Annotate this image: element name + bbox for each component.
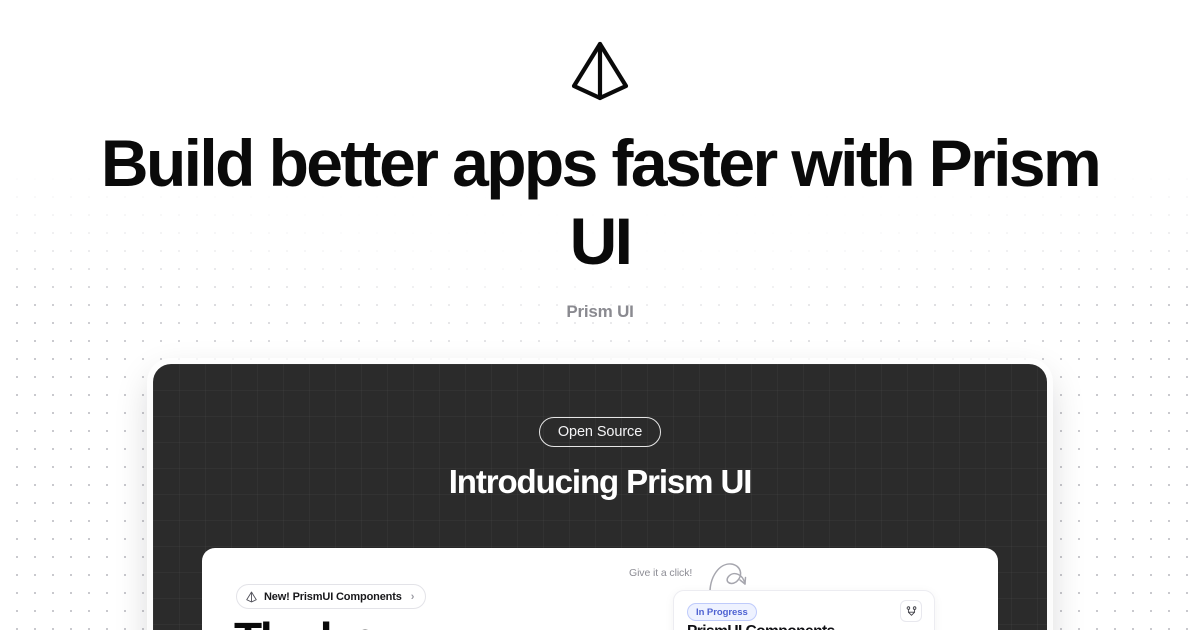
preview-card: Open Source Introducing Prism UI New! Pr… xyxy=(153,364,1047,630)
chevron-right-icon: › xyxy=(411,591,415,603)
prism-pyramid-icon xyxy=(246,591,257,603)
click-annotation-text: Give it a click! xyxy=(629,567,692,579)
open-source-badge: Open Source xyxy=(539,417,661,447)
app-mock-window: New! PrismUI Components › The lag Give i… xyxy=(202,548,998,630)
announcement-pill-label: New! PrismUI Components xyxy=(264,591,402,603)
announcement-pill[interactable]: New! PrismUI Components › xyxy=(236,584,426,609)
prism-pyramid-icon xyxy=(570,40,630,102)
status-badge: In Progress xyxy=(687,603,757,621)
task-card-title: PrismUI Components xyxy=(687,623,835,630)
git-pull-request-icon xyxy=(906,606,917,617)
task-card[interactable]: In Progress PrismUI Components xyxy=(673,590,935,630)
preview-heading: Introducing Prism UI xyxy=(153,463,1047,501)
task-action-button[interactable] xyxy=(900,600,922,622)
og-image-root: Build better apps faster with Prism UI P… xyxy=(0,0,1200,630)
page-subtitle: Prism UI xyxy=(0,302,1200,322)
page-title: Build better apps faster with Prism UI xyxy=(100,124,1100,280)
preview-content: Open Source Introducing Prism UI New! Pr… xyxy=(153,364,1047,630)
app-mock-headline: The lag xyxy=(234,614,380,630)
hero-section: Build better apps faster with Prism UI P… xyxy=(0,0,1200,322)
